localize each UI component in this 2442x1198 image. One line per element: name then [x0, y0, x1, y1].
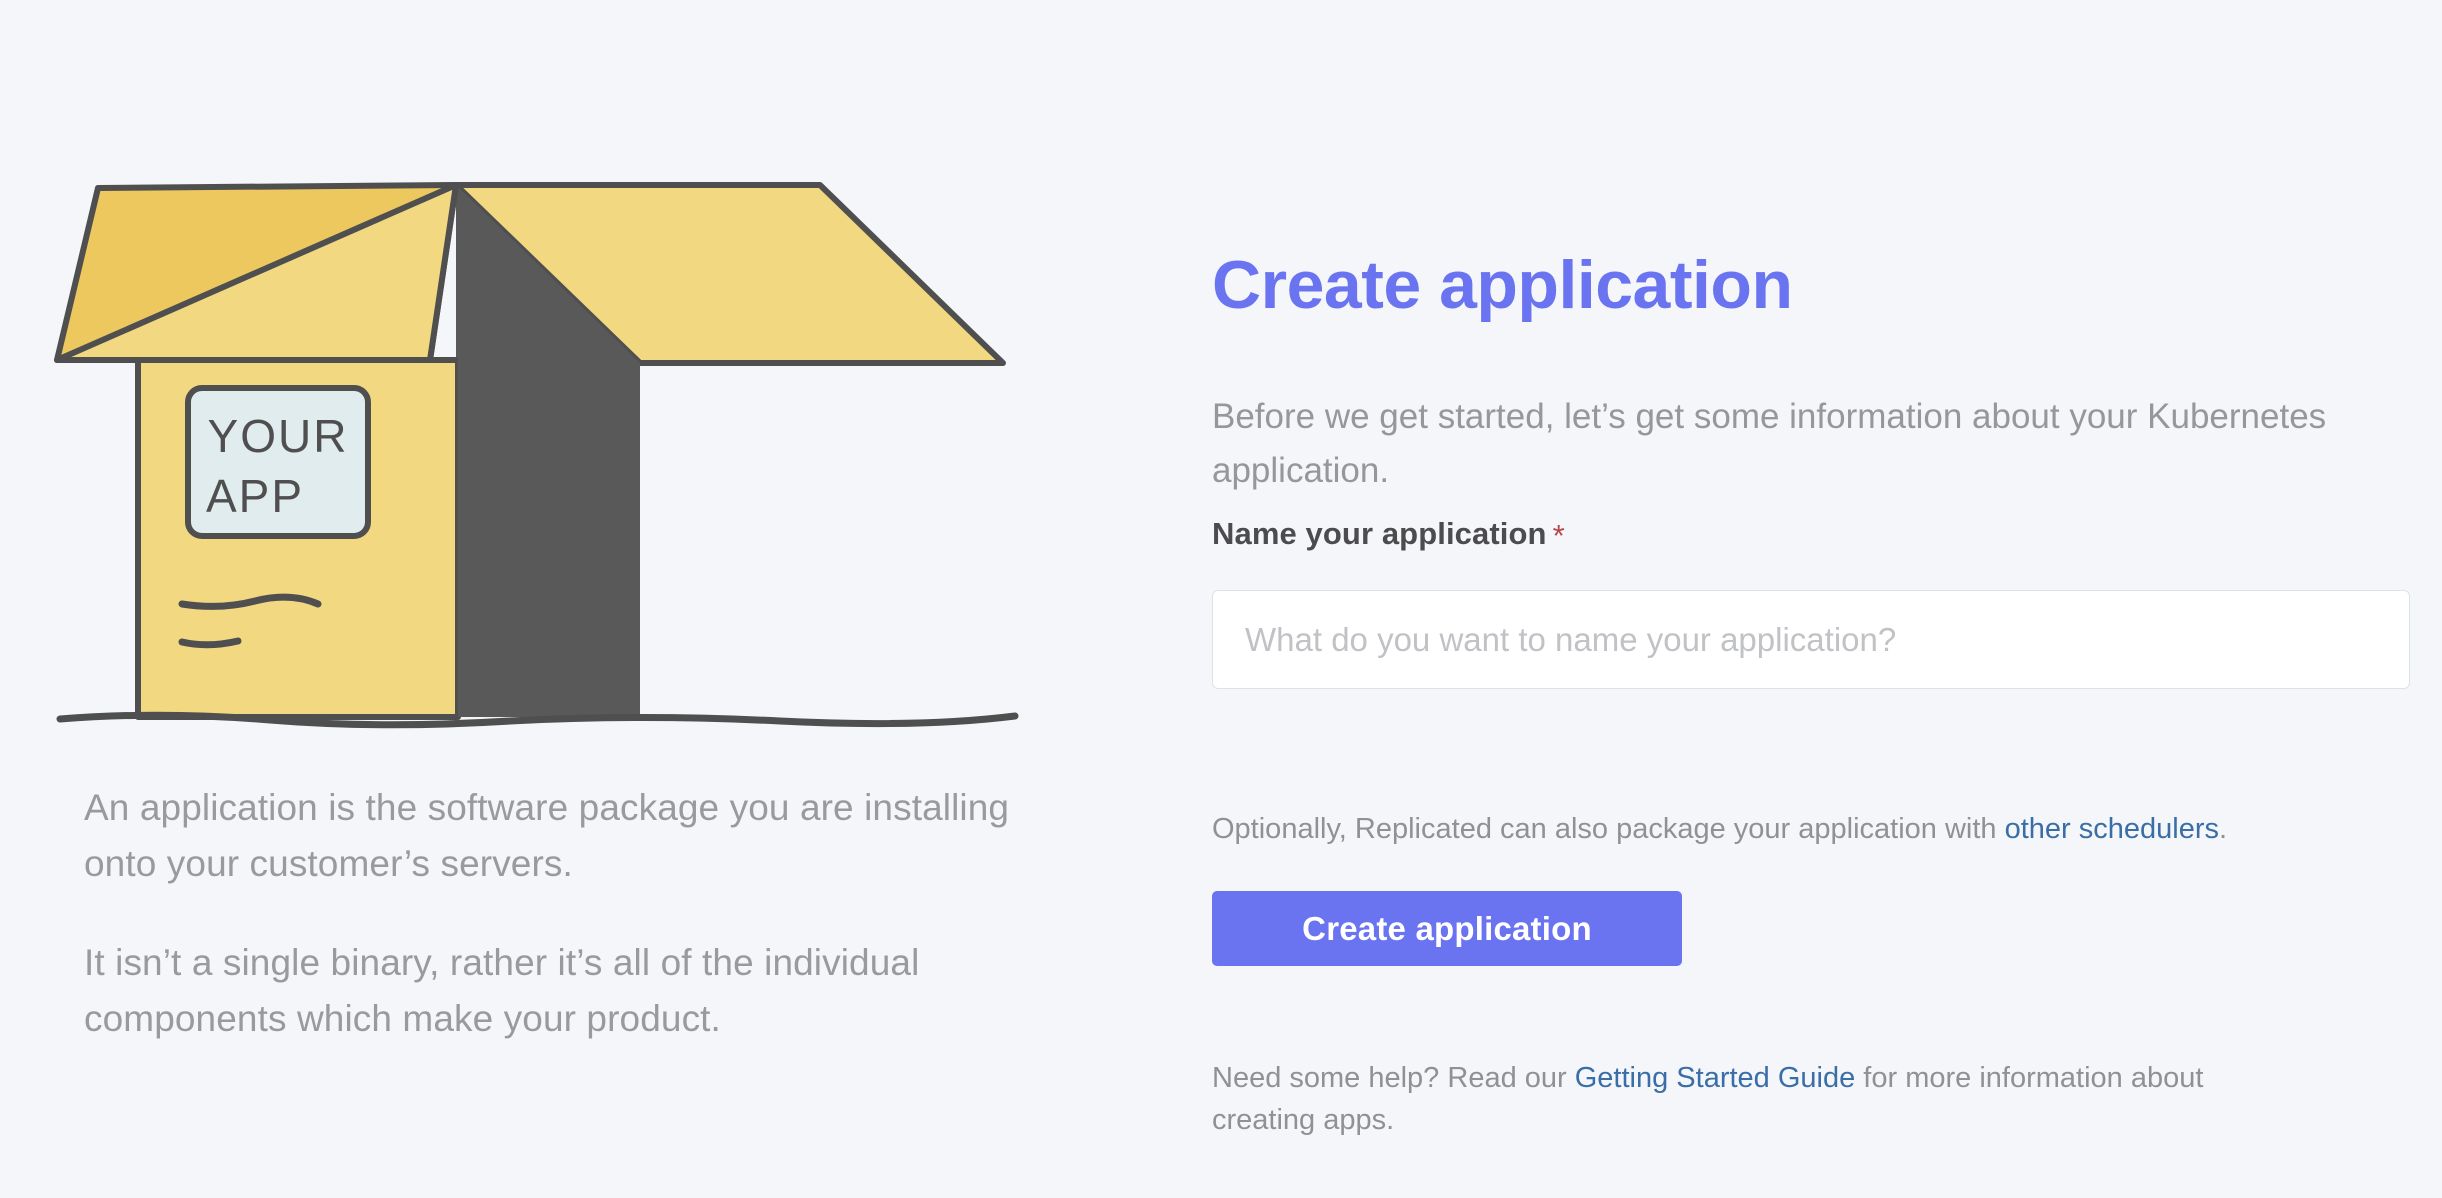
left-paragraph-2: It isn’t a single binary, rather it’s al… — [84, 935, 1024, 1046]
left-info-column: YOUR APP An application is the software … — [0, 0, 1150, 1198]
required-asterisk: * — [1553, 518, 1565, 553]
application-name-label-text: Name your application — [1212, 516, 1547, 551]
other-schedulers-note-prefix: Optionally, Replicated can also package … — [1212, 813, 2005, 845]
help-note-prefix: Need some help? Read our — [1212, 1062, 1575, 1094]
box-label-line-1: YOUR — [208, 410, 349, 462]
page-title: Create application — [1212, 251, 1793, 319]
box-illustration-svg: YOUR APP — [40, 180, 1050, 740]
open-cardboard-box-illustration: YOUR APP — [40, 180, 1050, 740]
help-note: Need some help? Read our Getting Started… — [1212, 1057, 2212, 1141]
form-intro-text: Before we get started, let’s get some in… — [1212, 390, 2347, 499]
application-name-label: Name your application* — [1212, 516, 1565, 552]
getting-started-guide-link[interactable]: Getting Started Guide — [1575, 1062, 1856, 1094]
box-detail-dash-2 — [182, 641, 238, 645]
other-schedulers-note-suffix: . — [2219, 813, 2227, 845]
other-schedulers-link[interactable]: other schedulers — [2005, 813, 2219, 845]
create-application-form-column: Create application Before we get started… — [1212, 0, 2442, 1198]
create-application-page: YOUR APP An application is the software … — [0, 0, 2442, 1198]
other-schedulers-note: Optionally, Replicated can also package … — [1212, 809, 2227, 850]
box-label-line-2: APP — [206, 470, 304, 522]
create-application-button[interactable]: Create application — [1212, 891, 1682, 966]
left-paragraph-1: An application is the software package y… — [84, 780, 1024, 891]
left-description: An application is the software package y… — [84, 780, 1024, 1046]
application-name-input[interactable] — [1212, 590, 2410, 689]
